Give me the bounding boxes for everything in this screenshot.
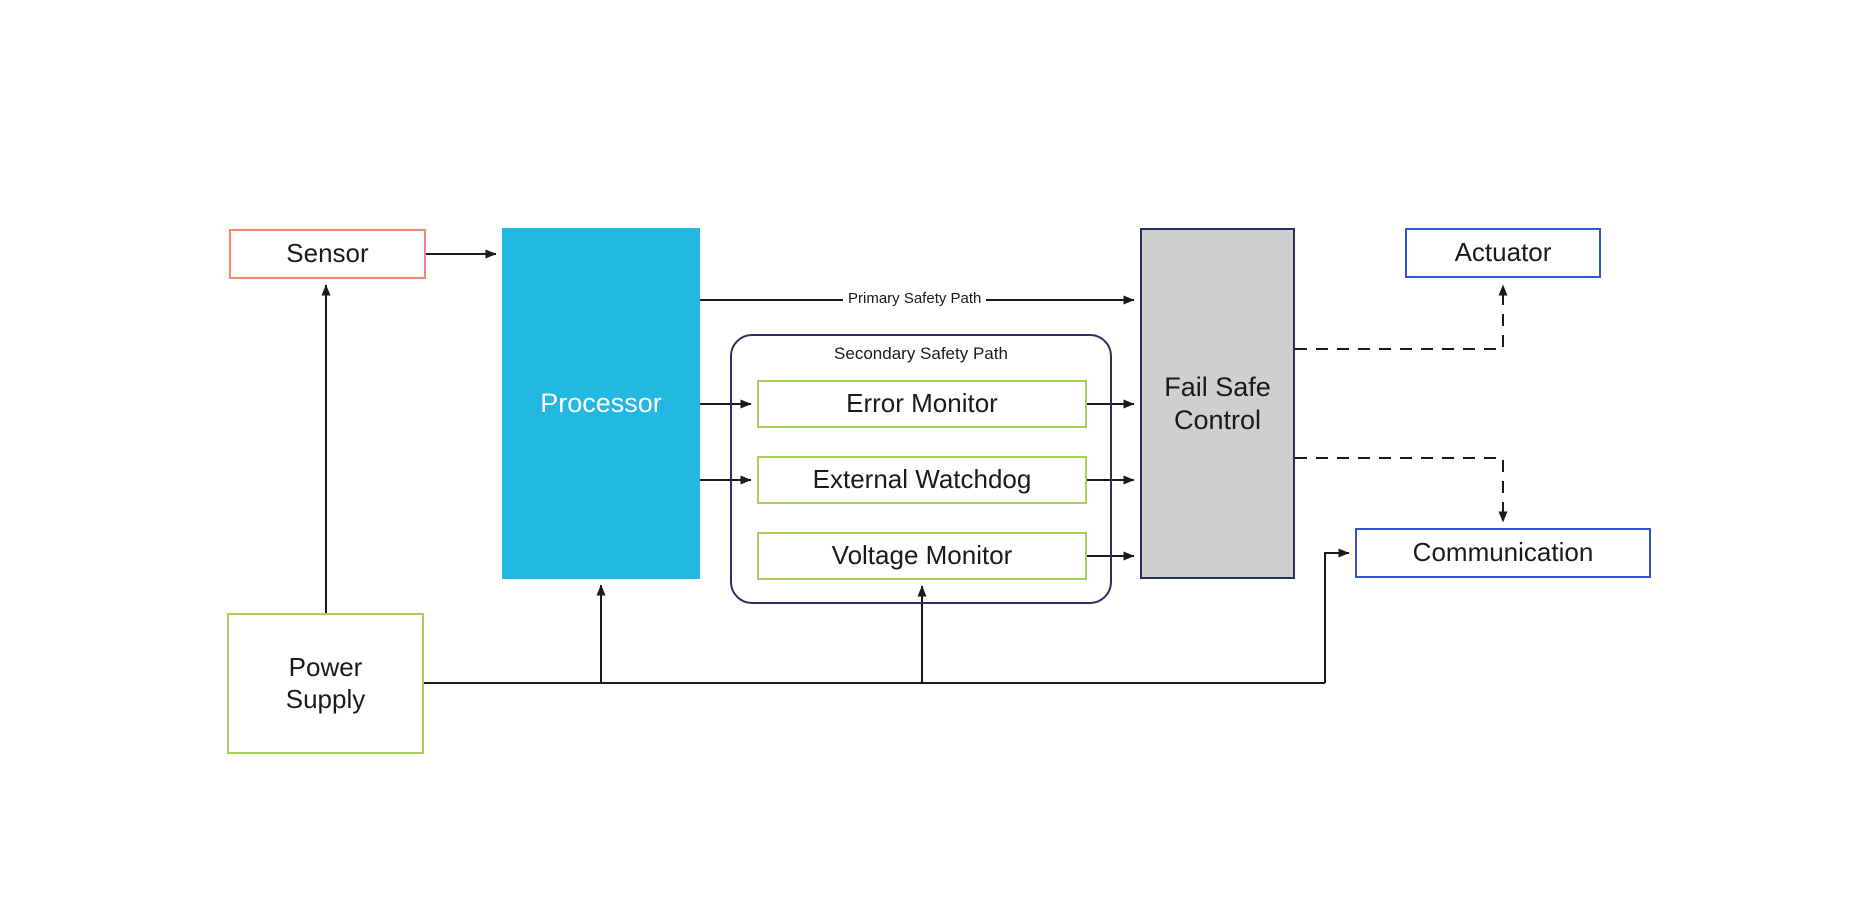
node-external-watchdog[interactable]: External Watchdog (757, 456, 1087, 504)
edge-failsafe-to-actuator (1295, 285, 1503, 349)
edge-power-to-communication (1325, 553, 1349, 683)
primary-safety-path-label: Primary Safety Path (843, 290, 986, 307)
node-processor[interactable]: Processor (502, 228, 700, 579)
node-error-monitor[interactable]: Error Monitor (757, 380, 1087, 428)
diagram-canvas: Secondary Safety Path Sensor Processor P… (0, 0, 1876, 923)
node-actuator-label: Actuator (1455, 237, 1552, 269)
node-fail-safe-control[interactable]: Fail Safe Control (1140, 228, 1295, 579)
node-power-supply[interactable]: Power Supply (227, 613, 424, 754)
node-sensor-label: Sensor (286, 238, 368, 270)
node-power-supply-label: Power Supply (286, 652, 366, 715)
node-voltage-monitor-label: Voltage Monitor (832, 540, 1013, 572)
node-actuator[interactable]: Actuator (1405, 228, 1601, 278)
node-communication[interactable]: Communication (1355, 528, 1651, 578)
edge-failsafe-to-communication (1295, 458, 1503, 522)
node-communication-label: Communication (1413, 537, 1594, 569)
node-voltage-monitor[interactable]: Voltage Monitor (757, 532, 1087, 580)
secondary-safety-path-label: Secondary Safety Path (834, 344, 1008, 365)
node-external-watchdog-label: External Watchdog (813, 464, 1032, 496)
node-processor-label: Processor (540, 387, 662, 420)
node-sensor[interactable]: Sensor (229, 229, 426, 279)
node-error-monitor-label: Error Monitor (846, 388, 998, 420)
node-fail-safe-control-label: Fail Safe Control (1164, 371, 1271, 437)
